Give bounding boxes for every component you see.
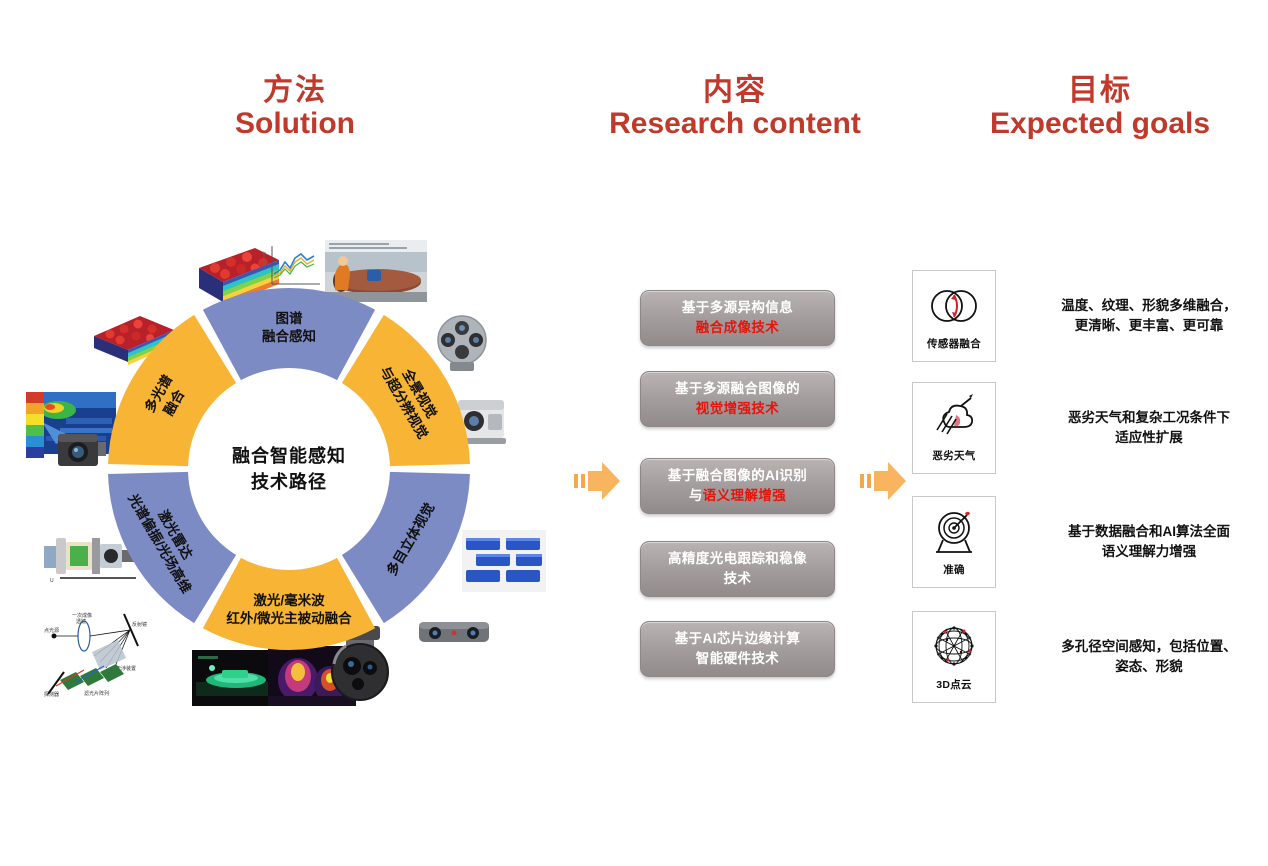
wheel-center-line1: 融合智能感知 — [232, 443, 346, 469]
content-box-line2: 智能硬件技术 — [696, 649, 779, 669]
goal-row-accuracy: 准确 基于数据融合和AI算法全面 语义理解力增强 — [912, 496, 1262, 588]
arrow-content-to-goals — [856, 458, 908, 504]
rain-cloud-icon — [923, 390, 985, 446]
svg-text:U: U — [50, 578, 54, 584]
goal-row-bad-weather: 恶劣天气 恶劣天气和复杂工况条件下 适应性扩展 — [912, 382, 1262, 474]
wheel-center-label: 融合智能感知 技术路径 — [189, 369, 389, 569]
goal-card-caption: 3D点云 — [936, 677, 972, 692]
goal-card-caption: 恶劣天气 — [932, 448, 975, 463]
header-goals-cn: 目标 — [950, 74, 1250, 107]
content-box-fusion-imaging[interactable]: 基于多源异构信息 融合成像技术 — [640, 290, 835, 346]
header-content-cn: 内容 — [580, 74, 890, 107]
column-header-content: 内容 Research content — [580, 74, 890, 142]
header-content-en: Research content — [580, 107, 890, 142]
wheel-segment-spectral-fusion-perception[interactable] — [203, 288, 375, 380]
goal-description-sensor-fusion: 温度、纹理、形貌多维融合， 更清晰、更丰富、更可靠 — [1030, 296, 1268, 337]
content-box-line2: 技术 — [724, 569, 752, 589]
column-header-solution: 方法 Solution — [150, 74, 440, 142]
goal-text-line2: 更清晰、更丰富、更可靠 — [1030, 316, 1268, 336]
content-box-line1: 基于多源异构信息 — [682, 298, 793, 318]
industrial-camera-thumbnail — [50, 424, 114, 474]
goal-text-line1: 多孔径空间感知，包括位置、 — [1030, 637, 1268, 657]
wheel-center-line2: 技术路径 — [251, 469, 327, 495]
spectral-colorbar-thumbnail — [22, 392, 50, 458]
wheel-segment-laser-mmwave-ir-fusion[interactable] — [203, 558, 375, 650]
content-box-ai-chip-edge-computing[interactable]: 基于AI芯片边缘计算 智能硬件技术 — [640, 621, 835, 677]
technology-roadmap-wheel: 融合智能感知 技术路径 图谱融合感知全景视觉与超分辨视觉多目立体视觉激光/毫米波… — [108, 288, 470, 650]
goal-text-line2: 姿态、形貌 — [1030, 657, 1268, 677]
diagram-canvas: 方法 Solution 内容 Research content 目标 Expec… — [0, 0, 1268, 866]
content-box-line1: 基于AI芯片边缘计算 — [675, 629, 801, 649]
header-solution-cn: 方法 — [150, 74, 440, 107]
goal-text-line2: 语义理解力增强 — [1030, 542, 1268, 562]
content-box-line2: 融合成像技术 — [696, 318, 779, 338]
content-box-ai-semantic-understanding[interactable]: 基于融合图像的AI识别 与语义理解增强 — [640, 458, 835, 514]
target-dartboard-icon — [923, 504, 985, 560]
header-solution-en: Solution — [150, 107, 440, 142]
content-box-line1: 基于多源融合图像的 — [675, 379, 800, 399]
content-box-line1: 基于融合图像的AI识别 — [668, 466, 807, 486]
content-box-line2: 与语义理解增强 — [689, 486, 786, 506]
goal-description-accuracy: 基于数据融合和AI算法全面 语义理解力增强 — [1030, 522, 1268, 563]
content-box-line2-prefix: 与 — [689, 488, 703, 503]
svg-text:点光源: 点光源 — [44, 627, 59, 634]
content-box-visual-enhancement[interactable]: 基于多源融合图像的 视觉增强技术 — [640, 371, 835, 427]
goal-text-line1: 温度、纹理、形貌多维融合， — [1030, 296, 1268, 316]
goal-row-sensor-fusion: 传感器融合 温度、纹理、形貌多维融合， 更清晰、更丰富、更可靠 — [912, 270, 1262, 362]
structured-light-3d-scan-thumbnail — [462, 530, 546, 592]
goal-row-point-cloud: 3D点云 多孔径空间感知，包括位置、 姿态、形貌 — [912, 611, 1262, 703]
goal-card-point-cloud[interactable]: 3D点云 — [912, 611, 996, 703]
point-cloud-sphere-icon — [923, 619, 985, 675]
goal-text-line2: 适应性扩展 — [1030, 428, 1268, 448]
arrow-solution-to-content — [570, 458, 622, 504]
goal-card-bad-weather[interactable]: 恶劣天气 — [912, 382, 996, 474]
content-box-optoelectronic-tracking[interactable]: 高精度光电跟踪和稳像 技术 — [640, 541, 835, 597]
svg-text:探测器: 探测器 — [44, 691, 59, 698]
goal-text-line1: 恶劣天气和复杂工况条件下 — [1030, 408, 1268, 428]
content-box-line2-highlight: 语义理解增强 — [703, 488, 786, 503]
goal-card-sensor-fusion[interactable]: 传感器融合 — [912, 270, 996, 362]
venn-circles-icon — [923, 278, 985, 334]
content-box-line2: 视觉增强技术 — [696, 399, 779, 419]
svg-text:intensity: intensity — [262, 251, 266, 266]
svg-text:滤光片阵列: 滤光片阵列 — [84, 690, 109, 697]
goal-card-caption: 传感器融合 — [927, 336, 981, 351]
goal-description-point-cloud: 多孔径空间感知，包括位置、 姿态、形貌 — [1030, 637, 1268, 678]
goal-text-line1: 基于数据融合和AI算法全面 — [1030, 522, 1268, 542]
goal-card-caption: 准确 — [943, 562, 965, 577]
column-header-goals: 目标 Expected goals — [950, 74, 1250, 142]
svg-text:一次成像: 一次成像 — [72, 612, 92, 619]
goal-card-accuracy[interactable]: 准确 — [912, 496, 996, 588]
content-box-line1: 高精度光电跟踪和稳像 — [668, 549, 807, 569]
svg-text:透镜: 透镜 — [76, 618, 86, 625]
header-goals-en: Expected goals — [950, 107, 1250, 142]
goal-description-bad-weather: 恶劣天气和复杂工况条件下 适应性扩展 — [1030, 408, 1268, 449]
